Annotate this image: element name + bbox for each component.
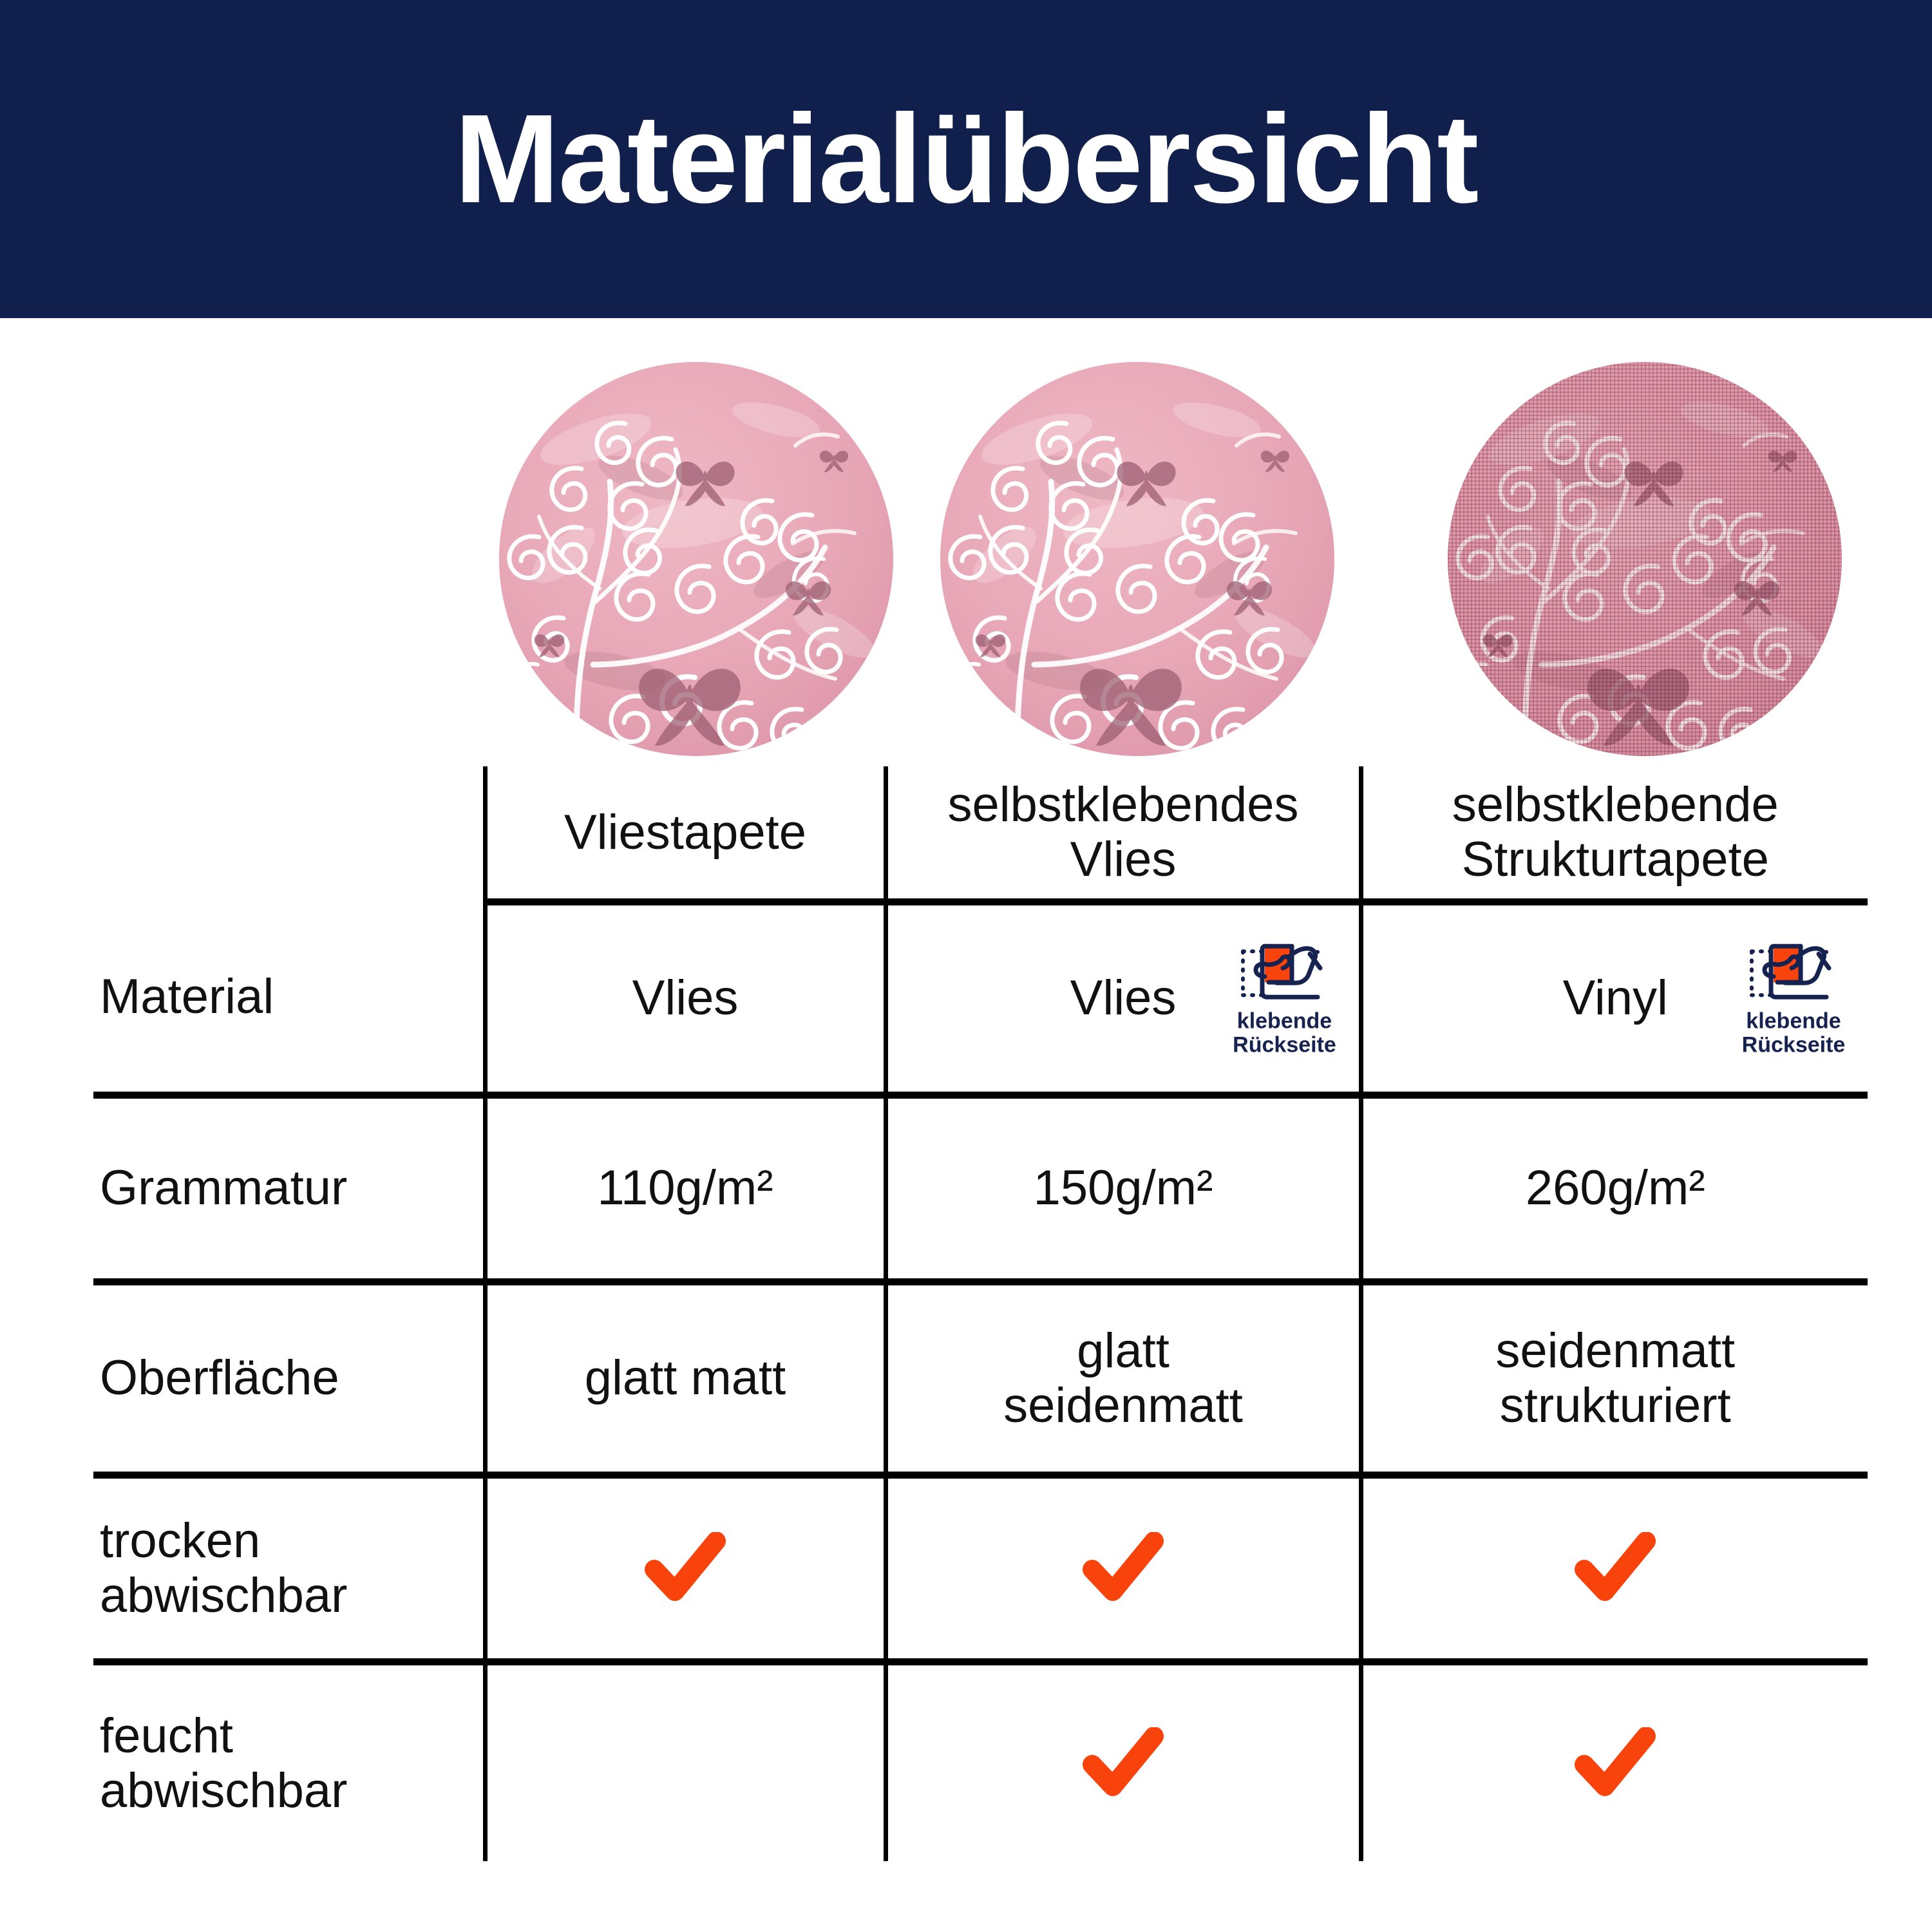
peel-adhesive-backing-icon xyxy=(1236,940,1333,1007)
row-label-line1: trocken xyxy=(100,1513,474,1568)
column-header-vliestapete: Vliestapete xyxy=(485,766,885,902)
row-label-text: Material xyxy=(100,969,274,1024)
checkmark-yes xyxy=(497,1532,875,1604)
header-bar: Materialübersicht xyxy=(0,0,1932,318)
column-header-label-line2: Strukturtapete xyxy=(1372,832,1859,887)
cell-trocken-selbstklebendes-vlies xyxy=(885,1475,1361,1662)
cell-value-line2: strukturiert xyxy=(1372,1378,1859,1433)
table-row-trocken-abwischbar: trocken abwischbar xyxy=(93,1475,1868,1662)
row-label-line1: feucht xyxy=(100,1709,474,1763)
material-overview-infographic: Materialübersicht xyxy=(0,0,1932,1932)
checkmark-none xyxy=(497,1763,497,1763)
cell-grammatur-selbstklebendes-vlies: 150g/m² xyxy=(885,1095,1361,1282)
cell-feucht-vliestapete xyxy=(485,1662,885,1861)
badge-line-2: Rückseite xyxy=(1742,1033,1846,1057)
badge-line-1: klebende xyxy=(1742,1009,1846,1033)
badge-line-2: Rückseite xyxy=(1233,1033,1336,1057)
swatch-selbstklebende-strukturtapete xyxy=(1448,362,1842,756)
cell-grammatur-vliestapete: 110g/m² xyxy=(485,1095,885,1282)
cell-trocken-vliestapete xyxy=(485,1475,885,1662)
cell-oberflaeche-vliestapete: glatt matt xyxy=(485,1282,885,1475)
cell-value: Vlies xyxy=(632,971,739,1025)
cell-value-line2: seidenmatt xyxy=(897,1378,1350,1433)
check-icon xyxy=(1574,1727,1656,1799)
header-corner-cell xyxy=(93,766,485,902)
cell-value: Vinyl xyxy=(1563,971,1668,1025)
cell-material-selbstklebende-strukturtapete: Vinyl xyxy=(1361,902,1868,1095)
row-label-feucht-abwischbar: feucht abwischbar xyxy=(93,1662,485,1861)
cell-oberflaeche-selbstklebendes-vlies: glatt seidenmatt xyxy=(885,1282,1361,1475)
cell-feucht-selbstklebende-strukturtapete xyxy=(1361,1662,1868,1861)
table-header-row: Vliestapete selbstklebendes Vlies selbst… xyxy=(93,766,1868,902)
check-icon xyxy=(1574,1532,1656,1604)
material-comparison-table: Vliestapete selbstklebendes Vlies selbst… xyxy=(93,766,1868,1861)
cell-oberflaeche-selbstklebende-strukturtapete: seidenmatt strukturiert xyxy=(1361,1282,1868,1475)
peel-adhesive-backing-icon xyxy=(1745,940,1842,1007)
table-row-grammatur: Grammatur 110g/m² 150g/m² 260g/m² xyxy=(93,1095,1868,1282)
cell-value: Vlies xyxy=(1070,971,1177,1025)
row-label-oberflaeche: Oberfläche xyxy=(93,1282,485,1475)
row-label-material: Material xyxy=(93,902,485,1095)
column-header-label: Vliestapete xyxy=(564,805,806,860)
badge-line-1: klebende xyxy=(1233,1009,1336,1033)
page-title: Materialübersicht xyxy=(455,96,1478,222)
column-header-label-line2: Vlies xyxy=(897,832,1350,887)
cell-grammatur-selbstklebende-strukturtapete: 260g/m² xyxy=(1361,1095,1868,1282)
table-row-oberflaeche: Oberfläche glatt matt glatt seidenmatt s… xyxy=(93,1282,1868,1475)
checkmark-yes xyxy=(1372,1532,1859,1604)
row-label-grammatur: Grammatur xyxy=(93,1095,485,1282)
adhesive-backing-badge: klebende Rückseite xyxy=(1725,940,1862,1056)
check-icon xyxy=(1082,1532,1164,1604)
column-header-label-line1: selbstklebende xyxy=(1372,777,1859,832)
table-row-material: Material Vlies Vlies xyxy=(93,902,1868,1095)
column-header-label-line1: selbstklebendes xyxy=(897,777,1350,832)
cell-value-line1: glatt xyxy=(897,1323,1350,1378)
row-label-text: Grammatur xyxy=(100,1160,347,1215)
adhesive-backing-badge: klebende Rückseite xyxy=(1216,940,1354,1056)
table-row-feucht-abwischbar: feucht abwischbar xyxy=(93,1662,1868,1861)
cell-value-line1: seidenmatt xyxy=(1372,1323,1859,1378)
column-header-selbstklebende-strukturtapete: selbstklebende Strukturtapete xyxy=(1361,766,1868,902)
checkmark-yes xyxy=(897,1532,1350,1604)
cell-trocken-selbstklebende-strukturtapete xyxy=(1361,1475,1868,1662)
row-label-line2: abwischbar xyxy=(100,1568,474,1623)
swatch-selbstklebendes-vlies xyxy=(940,362,1334,756)
row-label-text: Oberfläche xyxy=(100,1350,339,1405)
check-icon xyxy=(644,1532,726,1604)
cell-material-vliestapete: Vlies xyxy=(485,902,885,1095)
cell-material-selbstklebendes-vlies: Vlies xyxy=(885,902,1361,1095)
swatch-row xyxy=(0,362,1932,756)
column-header-selbstklebendes-vlies: selbstklebendes Vlies xyxy=(885,766,1361,902)
swatch-vliestapete xyxy=(499,362,893,756)
check-icon xyxy=(1082,1727,1164,1799)
row-label-line2: abwischbar xyxy=(100,1763,474,1818)
cell-feucht-selbstklebendes-vlies xyxy=(885,1662,1361,1861)
checkmark-yes xyxy=(897,1727,1350,1799)
row-label-trocken-abwischbar: trocken abwischbar xyxy=(93,1475,485,1662)
checkmark-yes xyxy=(1372,1727,1859,1799)
